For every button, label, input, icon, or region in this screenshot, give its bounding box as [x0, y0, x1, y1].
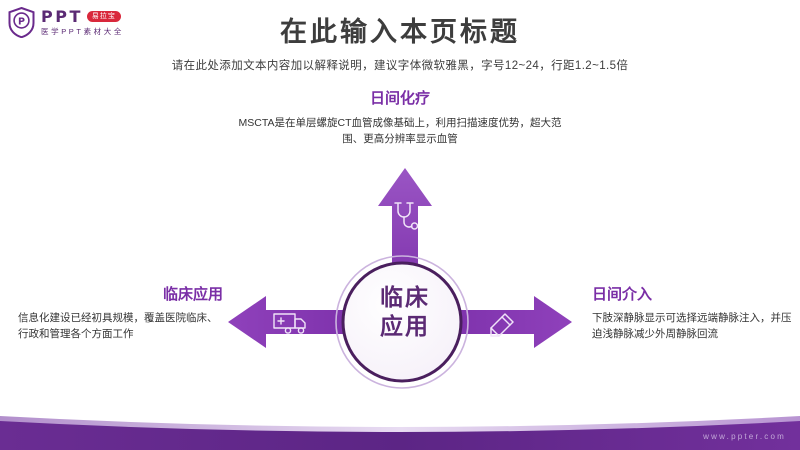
svg-text:P: P — [18, 16, 25, 27]
center-label-line1: 临床 — [338, 283, 472, 312]
branch-block-right: 日间介入 下肢深静脉显示可选择远端静脉注入，并压迫浅静脉减少外周静脉回流 — [592, 286, 792, 343]
center-label-line2: 应用 — [338, 312, 472, 341]
branch-top-body: MSCTA是在单层螺旋CT血管成像基础上，利用扫描速度优势，超大范围、更高分辨率… — [235, 115, 565, 148]
shield-icon: P — [8, 7, 35, 38]
branch-block-left: 临床应用 信息化建设已经初具规模，覆盖医院临床、行政和管理各个方面工作 — [18, 286, 223, 343]
page-subtitle: 请在此处添加文本内容加以解释说明，建议字体微软雅黑，字号12~24，行距1.2~… — [0, 57, 800, 73]
branch-right-heading: 日间介入 — [592, 286, 792, 304]
branch-top-heading: 日间化疗 — [235, 90, 565, 108]
brand-tagline: 医学PPT素材大全 — [41, 28, 124, 36]
brand-logo[interactable]: P PPT 易拉宝 医学PPT素材大全 — [8, 5, 140, 39]
branch-block-top: 日间化疗 MSCTA是在单层螺旋CT血管成像基础上，利用扫描速度优势，超大范围、… — [235, 90, 565, 148]
brand-name: PPT — [41, 9, 83, 25]
branch-right-body: 下肢深静脉显示可选择远端静脉注入，并压迫浅静脉减少外周静脉回流 — [592, 310, 792, 343]
watermark-text: www.ppter.com — [703, 432, 786, 441]
center-label: 临床 应用 — [338, 283, 472, 341]
brand-badge: 易拉宝 — [87, 11, 121, 22]
branch-left-body: 信息化建设已经初具规模，覆盖医院临床、行政和管理各个方面工作 — [18, 310, 223, 343]
branch-left-heading: 临床应用 — [18, 286, 223, 304]
